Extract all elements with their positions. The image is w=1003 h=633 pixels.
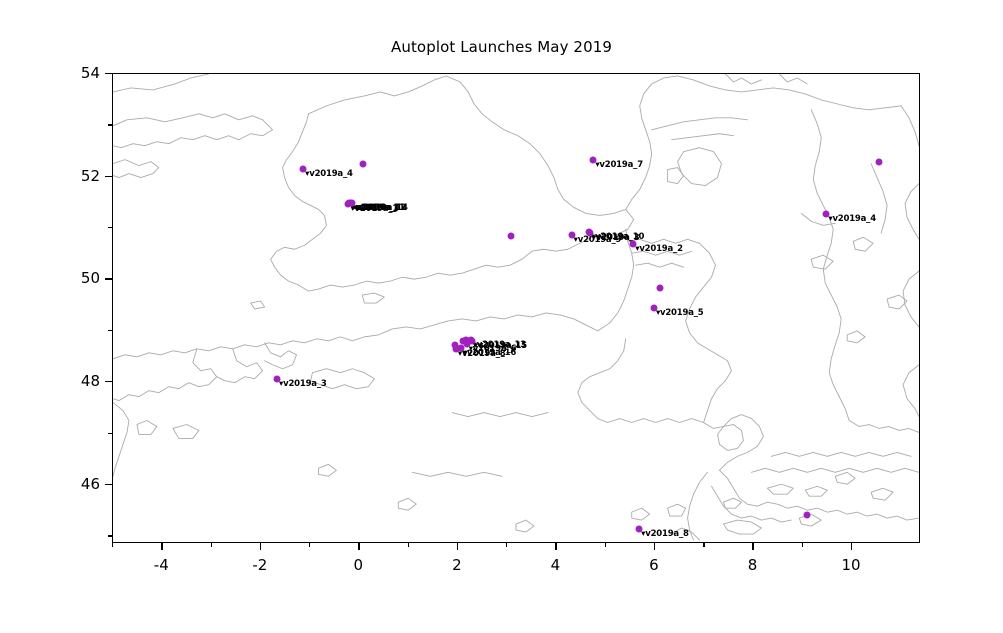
- scatter-point-label: ▾v2019a_8: [458, 349, 506, 359]
- x-major-tick: [555, 543, 556, 550]
- y-tick-label: 46: [64, 475, 100, 493]
- x-minor-tick: [408, 543, 409, 547]
- y-tick-label: 52: [64, 167, 100, 185]
- y-major-tick: [105, 176, 112, 177]
- x-tick-label: -4: [154, 556, 169, 574]
- x-tick-label: 2: [452, 556, 462, 574]
- scatter-point-label: ▾v2019a_1: [350, 204, 398, 214]
- scatter-marker: [876, 158, 883, 165]
- y-tick-label: 50: [64, 269, 100, 287]
- scatter-point-label: ▾v2019a_2: [635, 244, 683, 254]
- x-minor-tick: [506, 543, 507, 547]
- scatter-point-label: ▾v2019a_4: [305, 169, 353, 179]
- x-minor-tick: [703, 543, 704, 547]
- y-minor-tick: [108, 227, 112, 228]
- x-tick-label: 6: [649, 556, 659, 574]
- y-major-tick: [105, 381, 112, 382]
- y-major-tick: [105, 278, 112, 279]
- x-minor-tick: [802, 543, 803, 547]
- scatter-point-label: ▾v2019a_8: [641, 529, 689, 539]
- plot-figure: Autoplot Launches May 2019: [0, 0, 1003, 633]
- x-minor-tick: [211, 543, 212, 547]
- scatter-point-label: ▾v2019a_3: [279, 379, 327, 389]
- x-major-tick: [260, 543, 261, 550]
- y-tick-label: 54: [64, 64, 100, 82]
- x-minor-tick: [605, 543, 606, 547]
- x-minor-tick: [309, 543, 310, 547]
- y-minor-tick: [108, 433, 112, 434]
- x-minor-tick: [112, 543, 113, 547]
- x-tick-label: 0: [354, 556, 364, 574]
- scatter-marker: [656, 284, 663, 291]
- data-marker-layer: [113, 74, 919, 542]
- y-tick-label: 48: [64, 372, 100, 390]
- y-major-tick: [105, 73, 112, 74]
- scatter-marker: [359, 161, 366, 168]
- scatter-marker: [803, 511, 810, 518]
- scatter-point-label: ▾v2019a_4: [828, 214, 876, 224]
- x-major-tick: [654, 543, 655, 550]
- page-title: Autoplot Launches May 2019: [0, 38, 1003, 56]
- x-major-tick: [752, 543, 753, 550]
- y-minor-tick: [108, 535, 112, 536]
- y-major-tick: [105, 484, 112, 485]
- x-major-tick: [358, 543, 359, 550]
- scatter-marker: [508, 233, 515, 240]
- x-tick-label: 10: [841, 556, 860, 574]
- x-major-tick: [851, 543, 852, 550]
- x-major-tick: [161, 543, 162, 550]
- x-tick-label: 4: [551, 556, 561, 574]
- x-tick-label: -2: [252, 556, 267, 574]
- scatter-point-label: ▾v2019a_5: [656, 308, 704, 318]
- y-minor-tick: [108, 124, 112, 125]
- scatter-point-label: ▾v2019a_7: [595, 160, 643, 170]
- x-major-tick: [457, 543, 458, 550]
- x-tick-label: 8: [748, 556, 758, 574]
- map-axes[interactable]: [112, 73, 920, 543]
- y-minor-tick: [108, 330, 112, 331]
